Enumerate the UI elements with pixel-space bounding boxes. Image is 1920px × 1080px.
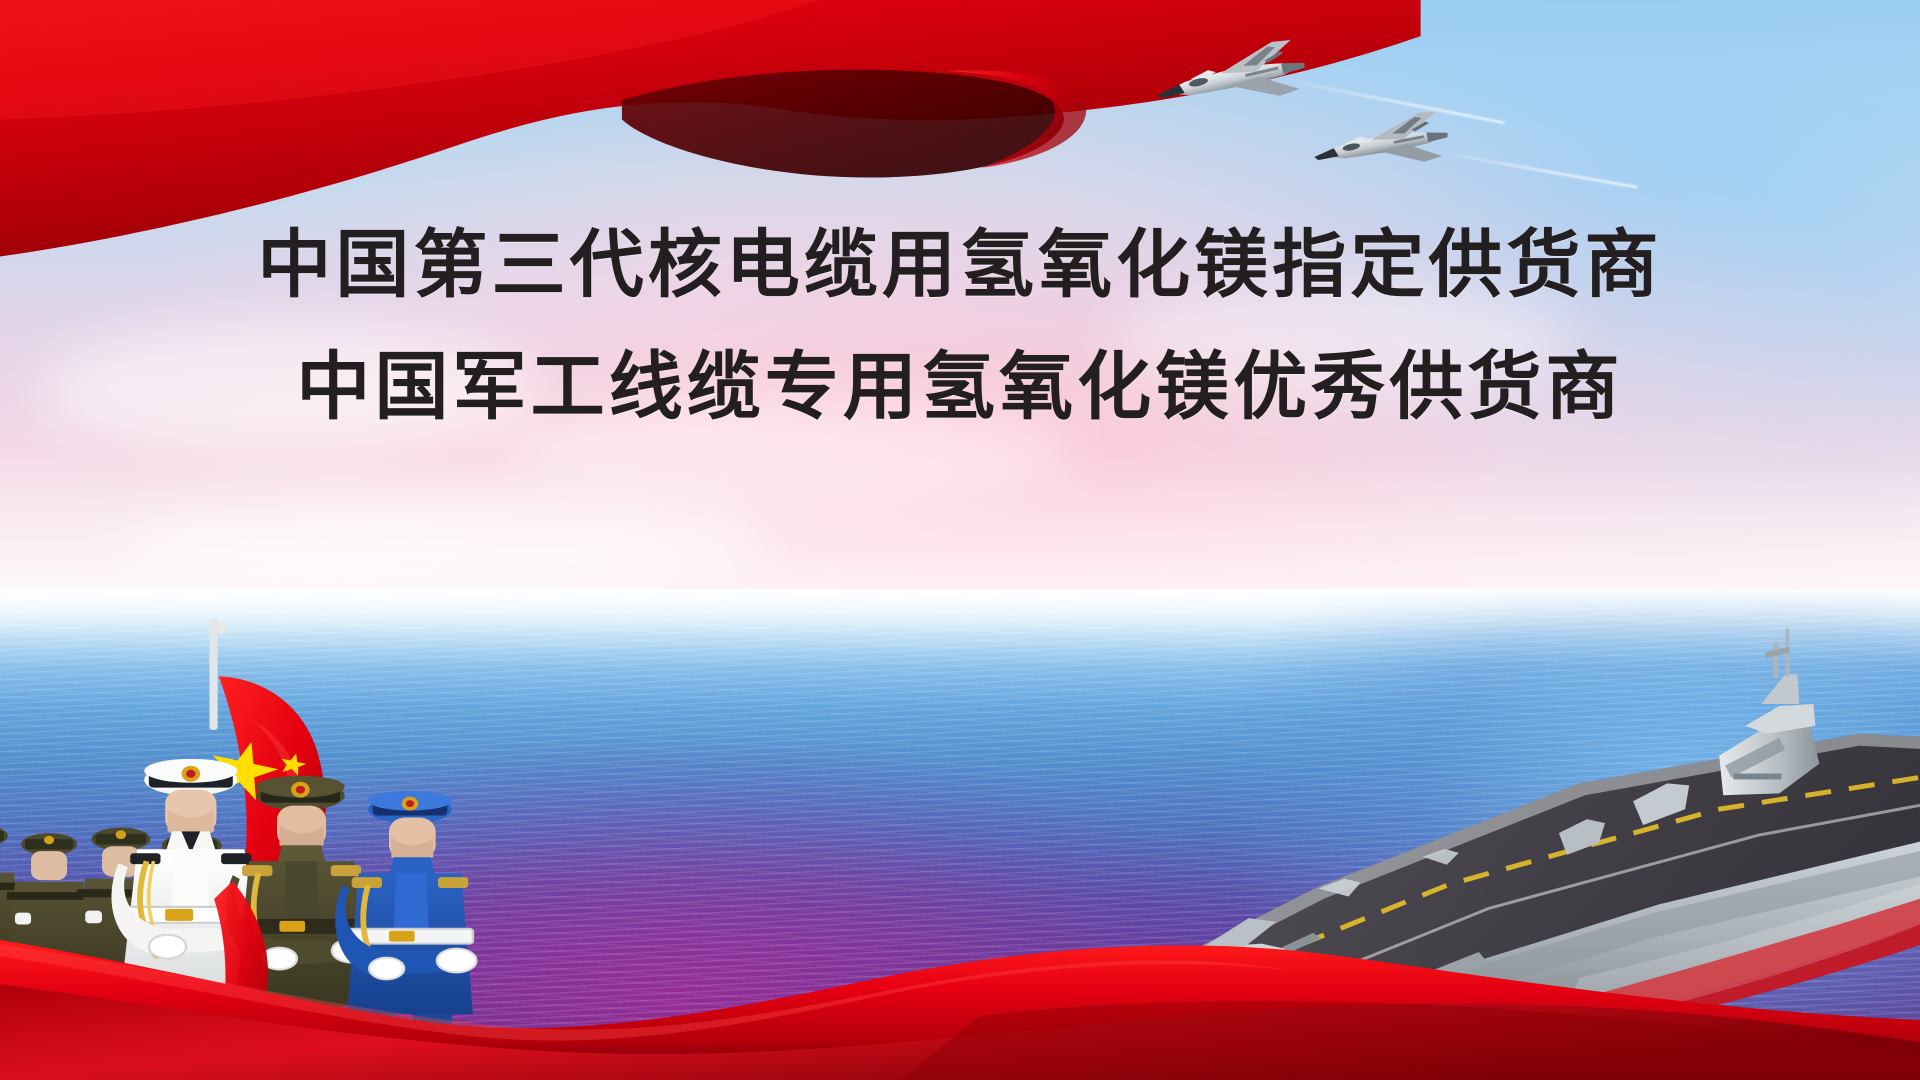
page-title-line-1: 中国第三代核电缆用氢氧化镁指定供货商 (0, 221, 1920, 308)
banner-canvas: 中国第三代核电缆用氢氧化镁指定供货商 中国军工线缆专用氢氧化镁优秀供货商 (0, 0, 1920, 1080)
page-title-line-2: 中国军工线缆专用氢氧化镁优秀供货商 (0, 343, 1920, 430)
red-ribbon (0, 864, 1920, 1080)
red-flag-drape (0, 0, 1421, 259)
banner-titles: 中国第三代核电缆用氢氧化镁指定供货商 中国军工线缆专用氢氧化镁优秀供货商 (0, 221, 1920, 430)
